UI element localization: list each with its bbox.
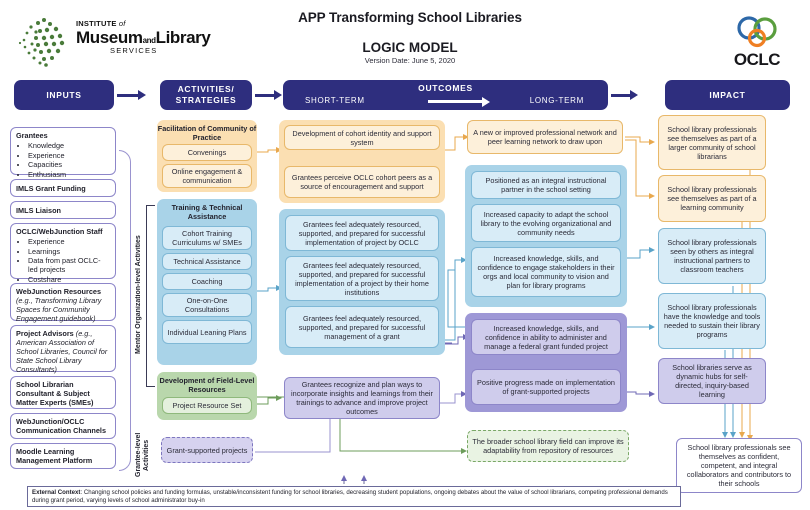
activities-field-title: Development of Field-Level Resources xyxy=(157,376,257,394)
activity-cohort-training: Cohort Training Curriculums w/ SMEs xyxy=(162,226,252,250)
shortterm-cohort-peers: Grantees perceive OCLC cohort peers as a… xyxy=(284,166,440,198)
input-title-5: Project Advisors xyxy=(16,329,74,338)
activity-learning-plans: Individual Leaning Plans xyxy=(162,320,252,344)
activity-technical-assistance: Technical Assistance xyxy=(162,253,252,270)
input-box-grant-funding: IMLS Grant Funding xyxy=(10,179,116,197)
external-context-note: External Context: Changing school polici… xyxy=(27,486,681,507)
input-title-4: WebJunction Resources xyxy=(16,287,101,296)
activity-project-resource-set: Project Resource Set xyxy=(162,397,252,414)
longterm-instructional-partner: Positioned as an integral instructional … xyxy=(471,171,621,199)
input-box-imls-liaison: IMLS Liaison xyxy=(10,201,116,219)
input-box-communication-channels: WebJunction/OCLC Communication Channels xyxy=(10,413,116,439)
activity-grant-supported-projects: Grant-supported projects xyxy=(161,437,253,463)
longterm-engage-stakeholders: Increased knowledge, skills, and confide… xyxy=(471,247,621,297)
input-box-sme-consultant: School Librarian Consultant & Subject Ma… xyxy=(10,376,116,409)
external-context-label: External Context xyxy=(32,489,80,496)
longterm-broader-field: The broader school library field can imp… xyxy=(467,430,629,462)
impact-confident-collaborators: School library professionals see themsel… xyxy=(676,438,802,493)
input-bullet: Data from past OCLC-led projects xyxy=(28,256,110,274)
activities-training-title: Training & Technical Assistance xyxy=(157,203,257,221)
shortterm-resourced-home: Grantees feel adequately resourced, supp… xyxy=(285,256,439,301)
input-bullets-3: Experience Learnings Data from past OCLC… xyxy=(16,237,110,284)
input-box-moodle-platform: Moodle Learning Management Platform xyxy=(10,443,116,469)
external-context-text: : Changing school policies and funding f… xyxy=(32,489,668,504)
side-label-grantee-activities: Grantee-level Activities xyxy=(135,425,145,485)
shortterm-group-orange: Development of cohort identity and suppo… xyxy=(279,120,445,203)
input-bullet: Capacities xyxy=(28,160,66,169)
input-box-webjunction-resources: WebJunction Resources (e.g., Transformin… xyxy=(10,283,116,321)
shortterm-cohort-identity: Development of cohort identity and suppo… xyxy=(284,125,440,150)
input-bullet: Enthusiasm xyxy=(28,170,66,179)
activities-cop-title: Facilitation of Community of Practice xyxy=(157,124,257,142)
shortterm-group-blue: Grantees feel adequately resourced, supp… xyxy=(279,209,445,355)
shortterm-resourced-oclc: Grantees feel adequately resourced, supp… xyxy=(285,215,439,251)
longterm-group-purple: Increased knowledge, skills, and confide… xyxy=(465,313,627,412)
input-bullet: Knowledge xyxy=(28,141,66,150)
longterm-group-blue: Positioned as an integral instructional … xyxy=(465,165,627,307)
shortterm-incorporate-insights: Grantees recognize and plan ways to inco… xyxy=(284,377,440,419)
longterm-administer-grant: Increased knowledge, skills, and confide… xyxy=(471,319,621,355)
inputs-brace-top xyxy=(119,150,131,311)
input-title-0: Grantees xyxy=(16,131,48,140)
inputs-brace-bottom xyxy=(119,310,131,471)
input-bullet: Experience xyxy=(28,151,66,160)
shortterm-manage-grant: Grantees feel adequately resourced, supp… xyxy=(285,306,439,348)
mentor-bracket xyxy=(146,205,155,387)
activity-online-engagement: Online engagement & communication xyxy=(162,164,252,188)
impact-knowledge-tools: School library professionals have the kn… xyxy=(658,293,766,349)
activity-convenings: Convenings xyxy=(162,144,252,161)
input-box-grantees: Grantees Knowledge Experience Capacities… xyxy=(10,127,116,175)
input-box-oclc-staff: OCLC/WebJunction Staff Experience Learni… xyxy=(10,223,116,279)
activity-coaching: Coaching xyxy=(162,273,252,290)
input-bullet: Learnings xyxy=(28,247,110,256)
input-bullet: Experience xyxy=(28,237,110,246)
side-label-mentor-activities: Mentor Organization-level Activities xyxy=(135,215,145,375)
longterm-increased-capacity: Increased capacity to adapt the school l… xyxy=(471,204,621,242)
input-bullets-0: Knowledge Experience Capacities Enthusia… xyxy=(16,141,66,179)
impact-dynamic-hubs: School libraries serve as dynamic hubs f… xyxy=(658,358,766,404)
impact-instructional-partners: School library professionals seen by oth… xyxy=(658,228,766,284)
activities-group-field-resources: Development of Field-Level Resources Pro… xyxy=(157,372,257,420)
activity-one-on-one: One-on-One Consultations xyxy=(162,293,252,317)
input-box-project-advisors: Project Advisors (e.g., American Associa… xyxy=(10,325,116,372)
impact-learning-community: School library professionals see themsel… xyxy=(658,175,766,222)
logic-model-canvas: INSTITUTE of MuseumandLibrary SERVICES A… xyxy=(0,0,810,510)
longterm-positive-progress: Positive progress made on implementation… xyxy=(471,369,621,405)
longterm-professional-network: A new or improved professional network a… xyxy=(467,120,623,154)
activities-group-cop: Facilitation of Community of Practice Co… xyxy=(157,120,257,192)
input-note-4: (e.g., Transforming Library Spaces for C… xyxy=(16,296,101,323)
input-title-3: OCLC/WebJunction Staff xyxy=(16,227,103,236)
impact-larger-community: School library professionals see themsel… xyxy=(658,115,766,170)
activities-group-training: Training & Technical Assistance Cohort T… xyxy=(157,199,257,365)
